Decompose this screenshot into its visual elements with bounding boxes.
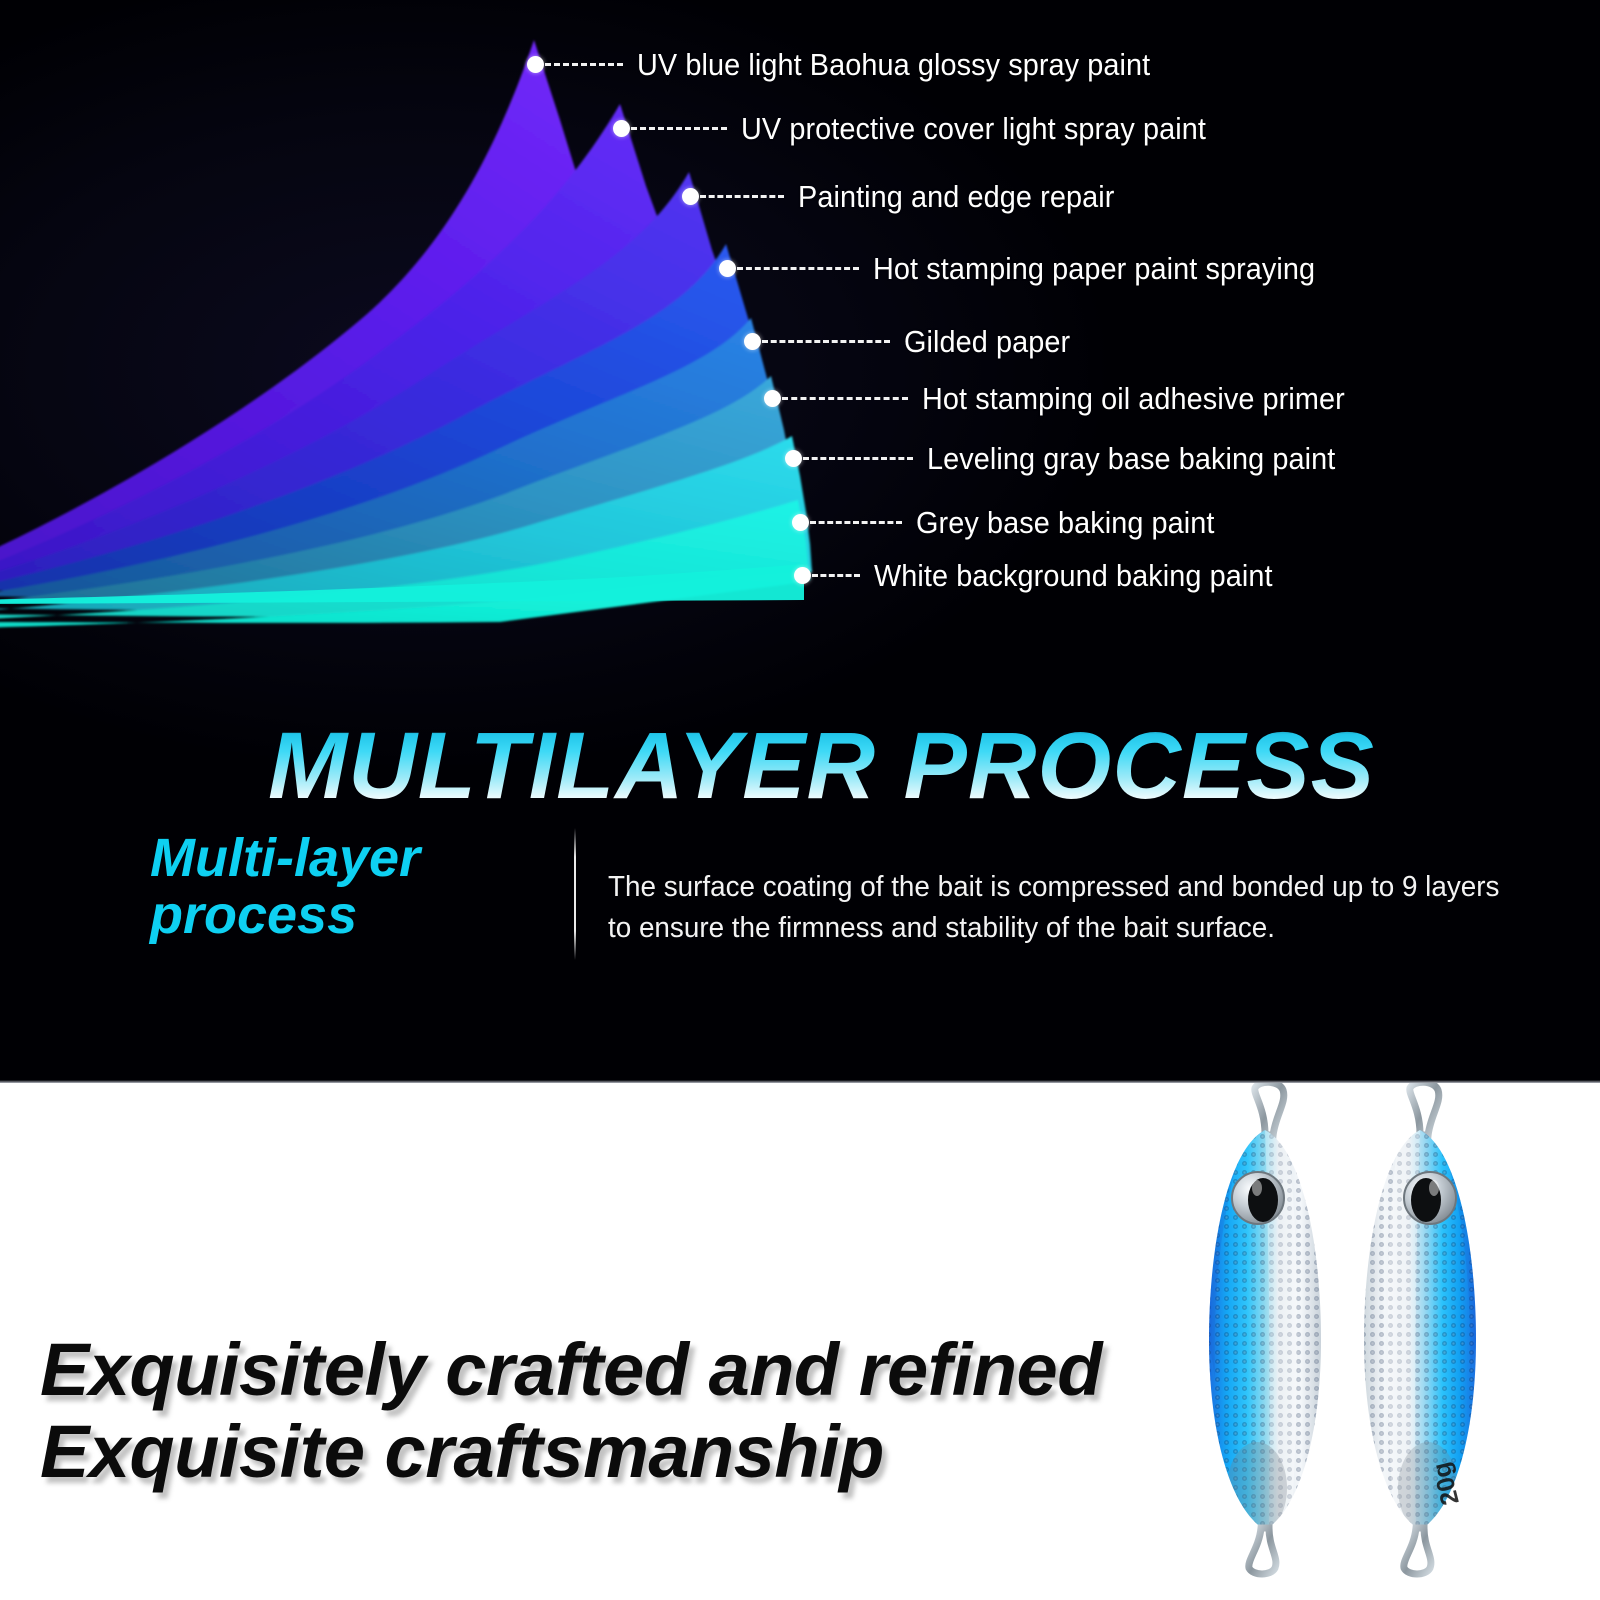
lure-eye xyxy=(1404,1172,1456,1224)
layer-callouts: UV blue light Baohua glossy spray paint … xyxy=(0,0,1600,640)
product-photo-group: 20g xyxy=(1185,1083,1515,1598)
callout-label: Painting and edge repair xyxy=(798,181,1114,212)
callout-dot-icon xyxy=(719,260,736,277)
callout-dot-icon xyxy=(792,514,809,531)
multilayer-diagram-panel: UV blue light Baohua glossy spray paint … xyxy=(0,0,1600,1083)
page-title: MULTILAYER PROCESS xyxy=(268,719,1375,814)
callout-label: UV blue light Baohua glossy spray paint xyxy=(637,49,1150,80)
callout-dot-icon xyxy=(682,188,699,205)
callout-dash xyxy=(631,127,727,130)
callout-layer-6: Hot stamping oil adhesive primer xyxy=(764,383,1377,413)
callout-dash xyxy=(762,340,890,343)
callout-dot-icon xyxy=(785,450,802,467)
callout-dot-icon xyxy=(764,390,781,407)
callout-label: Hot stamping paper paint spraying xyxy=(873,253,1315,284)
callout-label: Gilded paper xyxy=(904,326,1070,357)
tagline-line2: Exquisite craftsmanship xyxy=(40,1411,1200,1492)
callout-layer-9: White background baking paint xyxy=(794,560,1303,590)
callout-layer-5: Gilded paper xyxy=(744,326,1083,356)
callout-dash xyxy=(700,195,784,198)
callout-layer-7: Leveling gray base baking paint xyxy=(785,443,1366,473)
callout-dot-icon xyxy=(613,120,630,137)
split-ring-top-icon xyxy=(1410,1083,1439,1136)
split-ring-bottom-icon xyxy=(1249,1528,1276,1574)
lure-photo-right: 20g xyxy=(1350,1083,1490,1578)
info-heading-line1: Multi-layer xyxy=(150,828,420,888)
split-ring-bottom-icon xyxy=(1404,1528,1431,1574)
callout-dash xyxy=(782,397,908,400)
callout-layer-1: UV blue light Baohua glossy spray paint xyxy=(527,49,1189,79)
callout-dot-icon xyxy=(794,567,811,584)
callout-layer-3: Painting and edge repair xyxy=(682,181,1138,211)
callout-dash xyxy=(810,521,902,524)
callout-label: Grey base baking paint xyxy=(916,507,1215,538)
callout-dot-icon xyxy=(744,333,761,350)
lure-photo-left xyxy=(1195,1083,1335,1578)
callout-label: White background baking paint xyxy=(874,560,1273,591)
info-row: Multi-layer process The surface coating … xyxy=(0,820,1600,1020)
callout-layer-2: UV protective cover light spray paint xyxy=(613,113,1241,143)
callout-dash xyxy=(803,457,913,460)
callout-label: Hot stamping oil adhesive primer xyxy=(922,383,1345,414)
callout-label: Leveling gray base baking paint xyxy=(927,443,1335,474)
info-heading: Multi-layer process xyxy=(150,830,550,943)
vertical-divider xyxy=(574,828,576,960)
info-heading-line2: process xyxy=(150,885,357,945)
product-showcase-panel: Exquisitely crafted and refined Exquisit… xyxy=(0,1083,1600,1600)
callout-layer-8: Grey base baking paint xyxy=(792,507,1237,537)
tagline-line1: Exquisitely crafted and refined xyxy=(40,1328,1102,1411)
callout-label: UV protective cover light spray paint xyxy=(741,113,1206,144)
callout-dash xyxy=(737,267,859,270)
poster-canvas: UV blue light Baohua glossy spray paint … xyxy=(0,0,1600,1600)
split-ring-top-icon xyxy=(1255,1083,1284,1136)
info-description: The surface coating of the bait is compr… xyxy=(608,867,1501,949)
lure-eye xyxy=(1232,1172,1284,1224)
tagline: Exquisitely crafted and refined Exquisit… xyxy=(40,1329,1200,1492)
callout-dash xyxy=(545,63,623,66)
callout-dash xyxy=(812,574,860,577)
callout-dot-icon xyxy=(527,56,544,73)
callout-layer-4: Hot stamping paper paint spraying xyxy=(719,253,1348,283)
